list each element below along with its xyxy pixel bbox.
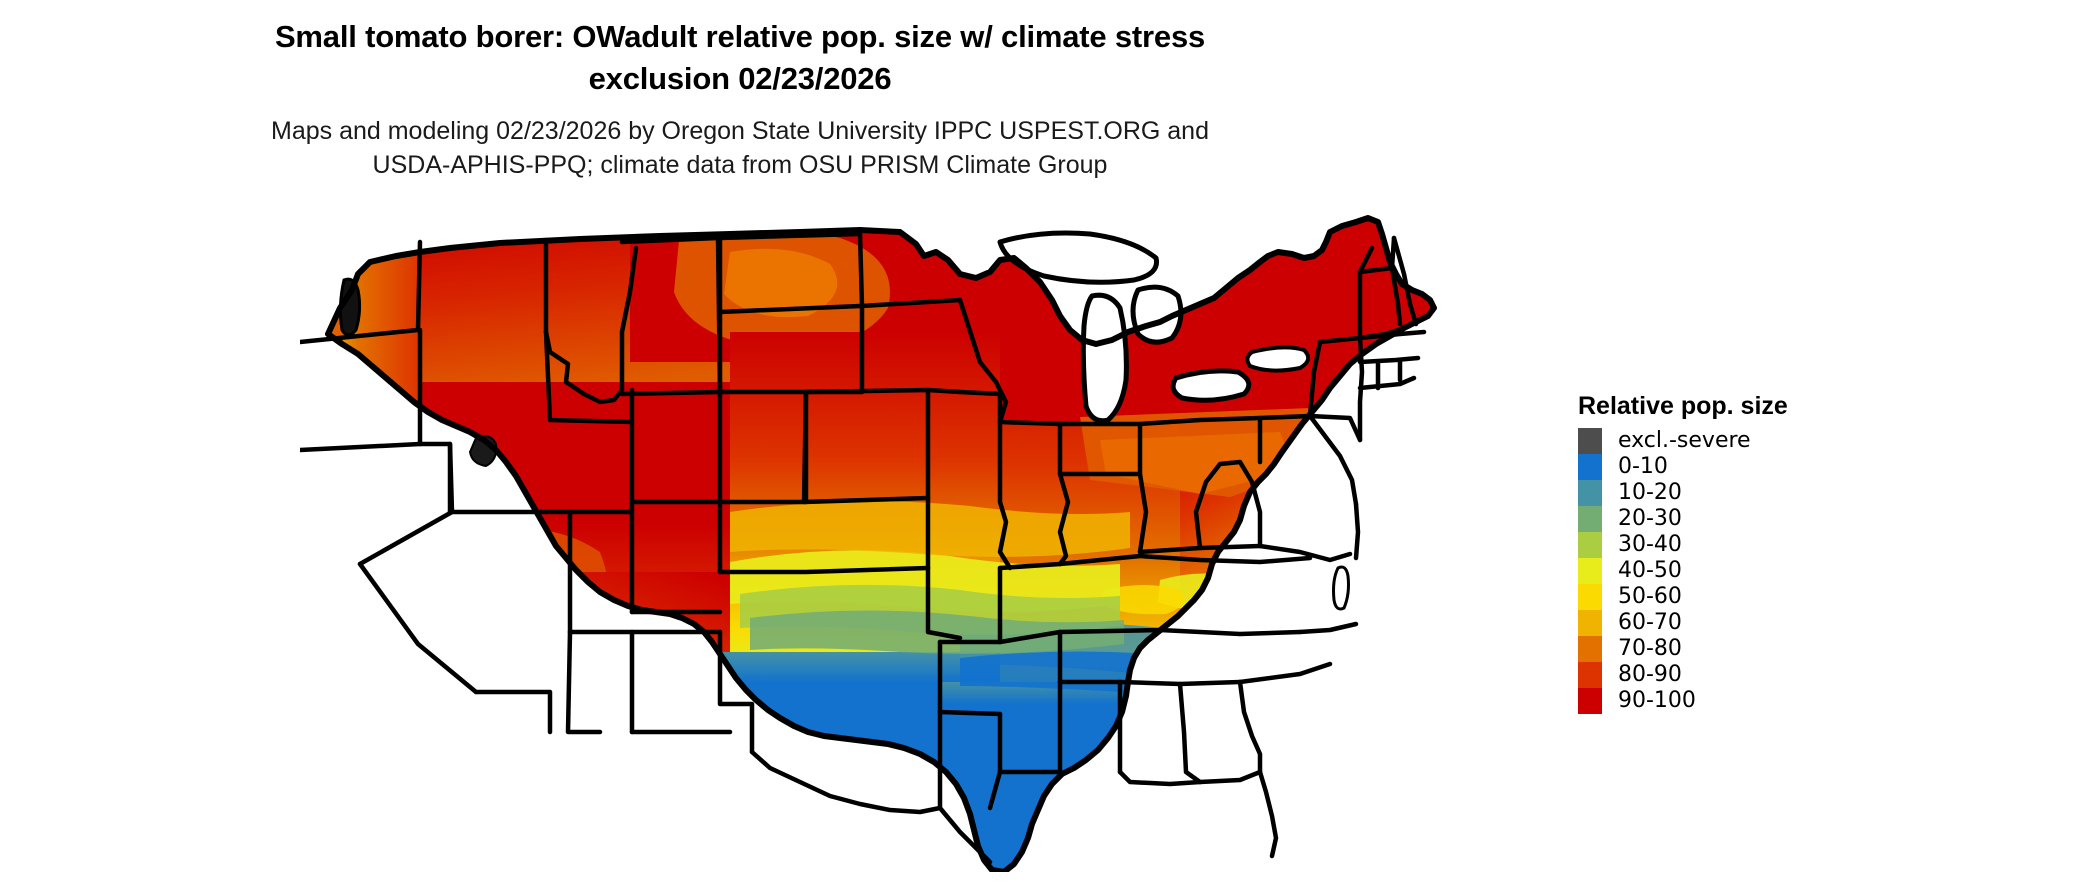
- legend-item-label: excl.-severe: [1618, 428, 1751, 454]
- map-canvas: [300, 212, 1480, 872]
- legend-item-label: 0-10: [1618, 454, 1668, 480]
- legend-item-label: 30-40: [1618, 532, 1682, 558]
- us-choropleth-map: [300, 212, 1480, 872]
- legend-item-label: 90-100: [1618, 688, 1696, 714]
- page-subtitle: Maps and modeling 02/23/2026 by Oregon S…: [0, 114, 1480, 182]
- legend-item: 60-70: [1578, 610, 1878, 636]
- legend-color-swatch: [1578, 454, 1602, 480]
- page-title: Small tomato borer: OWadult relative pop…: [0, 16, 1480, 100]
- legend-item: 30-40: [1578, 532, 1878, 558]
- legend-color-swatch: [1578, 532, 1602, 558]
- legend-title: Relative pop. size: [1578, 392, 1878, 420]
- legend-color-swatch: [1578, 636, 1602, 662]
- legend-item-label: 60-70: [1618, 610, 1682, 636]
- climate-stress-surface: [300, 212, 1480, 872]
- legend-items: excl.-severe0-1010-2020-3030-4040-5050-6…: [1578, 428, 1878, 714]
- legend-color-swatch: [1578, 662, 1602, 688]
- legend-color-swatch: [1578, 688, 1602, 714]
- legend-item: 50-60: [1578, 584, 1878, 610]
- legend-item: 0-10: [1578, 454, 1878, 480]
- legend-item-label: 80-90: [1618, 662, 1682, 688]
- title-block: Small tomato borer: OWadult relative pop…: [0, 16, 1480, 182]
- legend-color-swatch: [1578, 610, 1602, 636]
- lake-michigan: [1083, 295, 1126, 421]
- legend-item: 20-30: [1578, 506, 1878, 532]
- legend-item: 70-80: [1578, 636, 1878, 662]
- legend-color-swatch: [1578, 428, 1602, 454]
- legend-color-swatch: [1578, 480, 1602, 506]
- chesapeake-bay: [1334, 567, 1349, 609]
- legend-item: 90-100: [1578, 688, 1878, 714]
- legend-item: excl.-severe: [1578, 428, 1878, 454]
- legend-item-label: 50-60: [1618, 584, 1682, 610]
- legend-item: 10-20: [1578, 480, 1878, 506]
- lake-ontario: [1247, 347, 1308, 370]
- map-page: Small tomato borer: OWadult relative pop…: [0, 0, 2100, 892]
- legend-item-label: 20-30: [1618, 506, 1682, 532]
- legend: Relative pop. size excl.-severe0-1010-20…: [1578, 392, 1878, 714]
- lake-erie: [1173, 371, 1249, 400]
- legend-item-label: 40-50: [1618, 558, 1682, 584]
- legend-item-label: 10-20: [1618, 480, 1682, 506]
- legend-color-swatch: [1578, 558, 1602, 584]
- legend-item: 40-50: [1578, 558, 1878, 584]
- legend-item: 80-90: [1578, 662, 1878, 688]
- legend-color-swatch: [1578, 584, 1602, 610]
- legend-item-label: 70-80: [1618, 636, 1682, 662]
- legend-color-swatch: [1578, 506, 1602, 532]
